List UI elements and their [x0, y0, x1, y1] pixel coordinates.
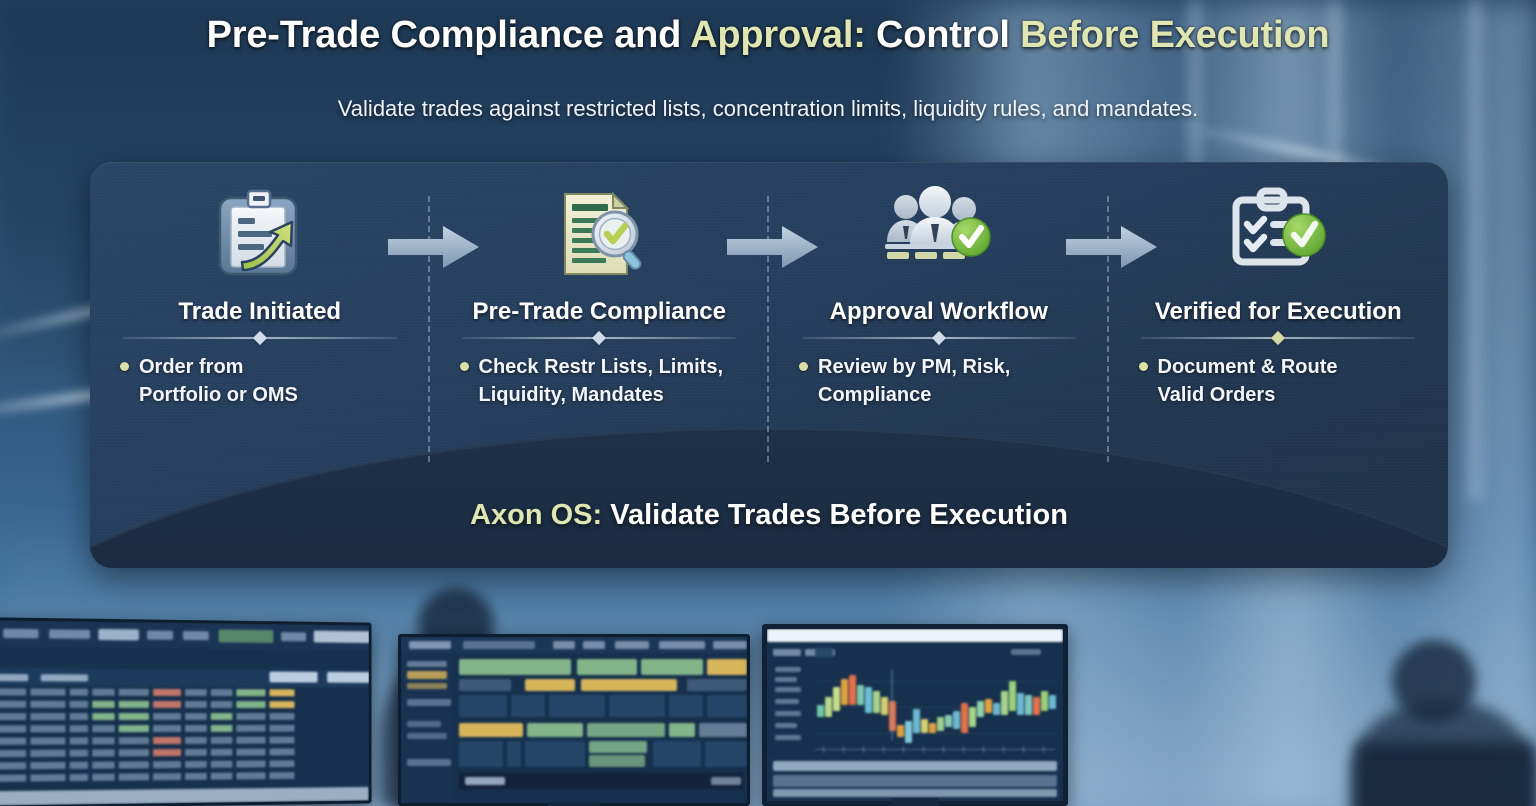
step-verified-for-execution[interactable]: Verified for Execution Document & Route … [1109, 178, 1449, 468]
bullet-dot [799, 362, 808, 371]
banner-text: Validate Trades Before Execution [602, 499, 1068, 531]
rule-diamond [932, 331, 946, 345]
bullet-item: Document & Route Valid Orders [1139, 353, 1435, 410]
bullet-line-1: Check Restr Lists, Limits, [479, 356, 724, 378]
browser-bar [767, 629, 1063, 642]
bullet-line-2: Portfolio or OMS [139, 384, 298, 406]
monitor-right-screen [762, 624, 1068, 806]
bullet-text: Review by PM, Risk, Compliance [818, 353, 1010, 410]
bullet-dot [120, 362, 129, 371]
document-magnifier-check-icon [444, 178, 756, 290]
bullet-item: Order from Portfolio or OMS [120, 353, 416, 410]
flow-arrow-2 [727, 224, 819, 270]
bullet-text: Order from Portfolio or OMS [139, 353, 298, 410]
bullet-item: Review by PM, Risk, Compliance [799, 353, 1095, 410]
bullet-line-1: Document & Route [1158, 356, 1338, 378]
page-title: Pre-Trade Compliance and Approval: Contr… [0, 14, 1536, 57]
rule-diamond [253, 331, 267, 345]
monitor-center-content [401, 637, 747, 803]
bullet-dot [460, 362, 469, 371]
process-steps: Trade Initiated Order from Portfolio or … [90, 178, 1448, 468]
page-subtitle: Validate trades against restricted lists… [0, 96, 1536, 122]
bullet-item: Check Restr Lists, Limits, Liquidity, Ma… [460, 353, 756, 410]
step-trade-initiated[interactable]: Trade Initiated Order from Portfolio or … [90, 178, 430, 468]
footer-banner: Axon OS: Validate Trades Before Executio… [90, 499, 1448, 532]
monitor-center-screen [398, 634, 750, 806]
table-footer [0, 787, 369, 806]
title-accent-approval: Approval: [690, 14, 866, 56]
step-title: Approval Workflow [783, 298, 1095, 326]
monitor-left-content [0, 620, 369, 805]
bullet-line-1: Review by PM, Risk, [818, 356, 1010, 378]
title-part-1: Pre-Trade Compliance and [207, 14, 691, 56]
step-bullets: Order from Portfolio or OMS [104, 353, 416, 410]
step-pre-trade-compliance[interactable]: Pre-Trade Compliance Check Restr Lists, … [430, 178, 770, 468]
title-part-2: Control [866, 14, 1020, 56]
step-approval-workflow[interactable]: Approval Workflow Review by PM, Risk, Co… [769, 178, 1109, 468]
monitor-left-screen [0, 617, 372, 806]
clipboard-arrow-icon [104, 178, 416, 290]
process-flow-panel: Trade Initiated Order from Portfolio or … [90, 162, 1448, 568]
monitor-right-candlestick-chart [762, 624, 1068, 806]
step-rule [802, 337, 1076, 339]
monitor-center-order-blotter [398, 634, 750, 806]
step-rule [123, 337, 397, 339]
bullet-dot [1139, 362, 1148, 371]
bullet-line-2: Compliance [818, 384, 931, 406]
step-bullets: Document & Route Valid Orders [1123, 353, 1435, 410]
checklist-clipboard-check-icon [1123, 178, 1435, 290]
bullet-line-1: Order from [139, 356, 243, 378]
step-title: Trade Initiated [104, 298, 416, 326]
step-title: Verified for Execution [1123, 298, 1435, 326]
bullet-text: Document & Route Valid Orders [1158, 353, 1338, 410]
window-mullion-3 [1470, 0, 1480, 500]
step-rule [1141, 337, 1415, 339]
step-bullets: Review by PM, Risk, Compliance [783, 353, 1095, 410]
flow-arrow-1 [388, 224, 480, 270]
bullet-line-2: Valid Orders [1158, 384, 1276, 406]
bullet-line-2: Liquidity, Mandates [479, 384, 664, 406]
chair-right [1356, 742, 1536, 806]
title-accent-before-execution: Before Execution [1020, 14, 1329, 56]
monitor-left-data-table [0, 620, 378, 806]
flow-arrow-3 [1066, 224, 1158, 270]
rule-diamond [1271, 331, 1285, 345]
step-title: Pre-Trade Compliance [444, 298, 756, 326]
bullet-text: Check Restr Lists, Limits, Liquidity, Ma… [479, 353, 724, 410]
step-rule [462, 337, 736, 339]
monitor-right-content [767, 629, 1063, 801]
rule-diamond [592, 331, 606, 345]
people-approval-check-icon [783, 178, 1095, 290]
step-bullets: Check Restr Lists, Limits, Liquidity, Ma… [444, 353, 756, 410]
banner-accent: Axon OS: [470, 499, 602, 531]
